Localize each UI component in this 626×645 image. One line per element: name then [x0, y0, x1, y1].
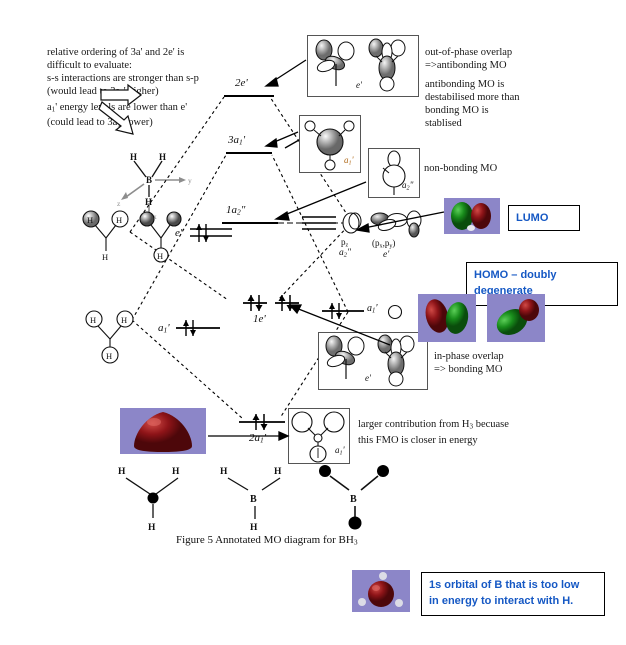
- orbital-box-2a1-label: a1': [335, 445, 345, 456]
- h-label: H: [172, 467, 180, 477]
- antibonding-note-line-3: antibonding MO is: [425, 78, 615, 91]
- b-s-symmetry-label: a1': [367, 303, 378, 314]
- bonding-note: in-phase overlap => bonding MO: [434, 350, 574, 376]
- b-s-level: [322, 302, 364, 320]
- svg-text:H: H: [106, 351, 112, 361]
- ordering-note-line-1: relative ordering of 3a' and 2e' is: [47, 46, 297, 59]
- antibonding-note-line-1: out-of-phase overlap: [425, 46, 615, 59]
- svg-text:H: H: [274, 467, 282, 477]
- orbital-box-bonding-e: e': [318, 332, 428, 390]
- homo-orbital-image-2: [487, 294, 545, 342]
- svg-text:H: H: [87, 215, 93, 225]
- homo-orbital-image-1: [418, 294, 476, 342]
- h-label: H: [148, 523, 156, 533]
- h3-e-level: [190, 224, 232, 242]
- antibonding-note-line-6: stablised: [425, 117, 615, 130]
- svg-text:H: H: [250, 523, 258, 533]
- figure-caption-text: Figure 5 Annotated MO diagram for BH: [176, 534, 354, 546]
- orbital-box-3a1: a1': [299, 115, 361, 173]
- antibonding-note: out-of-phase overlap =>antibonding MO an…: [425, 46, 615, 130]
- molecule-skeleton-h-filled: B: [312, 462, 398, 530]
- b-pz-orbital: [340, 210, 364, 236]
- antibonding-note-line-2: =>antibonding MO: [425, 59, 615, 72]
- larger-contribution-line-2: this FMO is closer in energy: [358, 434, 608, 447]
- h-label: H: [118, 467, 126, 477]
- bonding-note-line-1: in-phase overlap: [434, 350, 574, 363]
- footnote-callout: 1s orbital of B that is too low in energ…: [421, 572, 605, 616]
- orbital-box-antibonding-e: e': [307, 35, 419, 97]
- svg-text:H: H: [90, 315, 96, 325]
- svg-text:H: H: [121, 315, 127, 325]
- h3-a1-fragment-orbital: H H H: [78, 305, 150, 363]
- molecule-skeleton-h3: H H H: [110, 462, 196, 530]
- b-pz-symmetry-label: a2": [339, 248, 351, 258]
- antibonding-note-line-5: bonding MO is: [425, 104, 615, 117]
- svg-text:H: H: [116, 215, 122, 225]
- b-s-orbital: [387, 304, 403, 320]
- svg-text:H: H: [220, 467, 228, 477]
- orbital-box-2a1: a1': [288, 408, 350, 464]
- nonbonding-note: non-bonding MO: [424, 162, 544, 175]
- svg-text:H: H: [157, 251, 163, 261]
- h3-e-label: e': [175, 227, 182, 239]
- b-label: B: [250, 494, 257, 505]
- b-1s-orbital-image: [352, 570, 410, 612]
- mo-label-2e: 2e': [235, 77, 248, 89]
- h3-a1-level: [176, 319, 220, 337]
- bonding-2a1-orbital-image: [120, 408, 206, 454]
- b-pxpy-orbital: [370, 208, 428, 238]
- bonding-note-line-2: => bonding MO: [434, 363, 574, 376]
- figure-caption: Figure 5 Annotated MO diagram for BH3: [176, 534, 358, 547]
- b-p-level: [302, 214, 336, 232]
- orbital-box-antibonding-e-label: e': [356, 80, 362, 90]
- molecule-skeleton-bh3-b-highlighted: H H B H: [212, 462, 298, 530]
- svg-text:B: B: [350, 494, 357, 505]
- ordering-note-line-2: difficult to evaluate:: [47, 59, 297, 72]
- footnote-line-1: 1s orbital of B that is too low: [429, 577, 597, 593]
- lumo-orbital-image: [444, 198, 500, 234]
- figure-caption-subscript: 3: [354, 538, 358, 547]
- b-pz-label: pz: [341, 237, 348, 248]
- svg-text:H: H: [102, 252, 108, 262]
- larger-contribution-line-1: larger contribution from H3 becuase: [358, 418, 608, 434]
- orbital-box-bonding-e-label: e': [365, 373, 371, 383]
- orbital-box-a2-label: a2": [402, 180, 413, 191]
- lumo-callout: LUMO: [508, 205, 580, 231]
- b-pxpy-label: (px,py): [372, 238, 395, 249]
- homo-callout-line-1: HOMO – doubly: [474, 267, 610, 283]
- b-pxpy-symmetry-label: e': [383, 250, 389, 260]
- h3-a1-label: a1': [158, 322, 170, 335]
- footnote-line-2: in energy to interact with H.: [429, 593, 597, 609]
- larger-contribution-note: larger contribution from H3 becuase this…: [358, 418, 608, 447]
- antibonding-note-line-4: destabilised more than: [425, 91, 615, 104]
- orbital-box-a2-nonbonding: a2": [368, 148, 420, 198]
- orbital-box-3a1-label: a1': [344, 155, 354, 166]
